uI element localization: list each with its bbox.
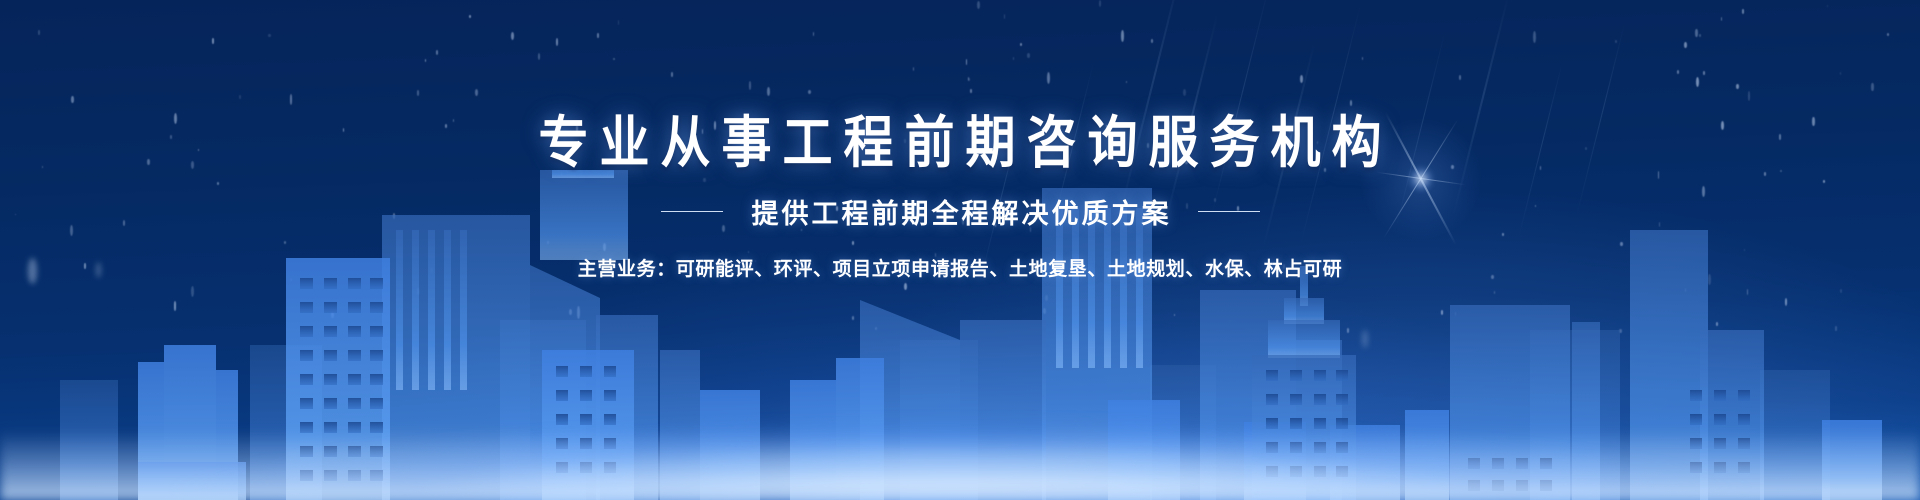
star-particle [1214,198,1216,202]
star-particle [1840,72,1841,75]
star-particle [1764,172,1767,175]
light-streak [1396,33,1446,227]
light-streak [981,122,1021,278]
banner-content: 专业从事工程前期咨询服务机构 提供工程前期全程解决优质方案 主营业务：可研能评、… [0,0,1920,500]
flare-ray [1385,112,1457,245]
star-particle [1502,233,1504,237]
star-particle [511,32,514,40]
star-particle [1779,134,1781,140]
right-dash-decoration [1198,211,1260,213]
star-particle [239,95,241,99]
star-particle [284,241,286,244]
star-particle [904,139,906,143]
star-mote [96,262,101,278]
star-particle [722,225,725,233]
star-particle [1535,205,1536,207]
star-particle [1300,75,1303,83]
star-particle [84,263,86,269]
star-particle [603,243,606,251]
star-particle [852,241,854,245]
bottom-fade [0,430,1920,500]
star-particle [1533,31,1536,43]
light-streak [1452,0,1509,217]
star-particle [1185,161,1188,164]
star-particle [1812,117,1814,125]
star-particle [538,53,540,60]
star-particle [1708,274,1711,285]
star-particle [1785,298,1787,307]
light-streak [1518,63,1563,238]
star-particle [547,241,548,244]
star-particle [966,59,968,65]
star-particle [1237,206,1239,211]
star-particle [852,316,854,320]
light-streak [1211,0,1270,217]
star-particle [1147,143,1149,149]
star-particle [1013,57,1015,60]
star-particle [1045,295,1048,301]
flare-ray [1383,119,1458,238]
star-particle [393,213,395,219]
star-particle [1659,222,1661,228]
star-mote [28,258,37,284]
star-particle [904,283,907,291]
star-particle [613,58,614,61]
star-particle [1702,186,1705,197]
star-particle [671,72,673,78]
star-particle [749,81,752,90]
star-particle [618,20,620,25]
star-particle [1695,29,1697,37]
banner-headline: 专业从事工程前期咨询服务机构 [528,115,1393,171]
star-particle [935,253,937,257]
star-particle [42,166,43,168]
star-particle [1494,291,1495,294]
star-particle [1317,141,1318,144]
light-streak [1047,63,1094,248]
star-particle [1658,171,1660,179]
flare-core [1408,166,1434,192]
star-particle [331,312,333,318]
star-particle [702,129,703,133]
star-particle [1703,71,1706,75]
star-particle [970,89,971,93]
banner-subtitle: 提供工程前期全程解决优质方案 [749,192,1172,231]
star-particle [746,115,748,124]
star-particle [836,206,838,211]
star-particle [978,209,981,215]
lens-flare-icon [1420,178,1421,179]
star-particle [1721,17,1722,21]
horizon-arc-line [0,372,1920,492]
banner-subtitle-row: 提供工程前期全程解决优质方案 [661,192,1260,231]
star-particle [1716,322,1719,327]
star-particle [1540,166,1542,170]
star-particle [561,172,562,175]
horizon-glow [0,350,1920,500]
star-particle [1585,147,1587,150]
star-particle [577,306,580,319]
star-particle [1441,310,1443,315]
star-particle [1620,242,1623,246]
star-particle [969,78,971,82]
star-particle [1615,40,1617,43]
star-particle [268,34,271,38]
star-particle [1362,57,1364,60]
left-dash-decoration [661,211,723,213]
star-particle [1350,100,1352,106]
star-particle [1685,288,1687,292]
star-particle [430,268,433,273]
star-particle [962,216,964,225]
star-particle [217,182,219,185]
star-particle [1030,227,1032,232]
star-particle [1183,89,1186,96]
star-particle [986,121,989,132]
star-particle [1827,5,1828,7]
hero-banner: 专业从事工程前期咨询服务机构 提供工程前期全程解决优质方案 主营业务：可研能评、… [0,0,1920,500]
star-particle [1347,328,1350,334]
star-particle [1451,165,1454,169]
star-particle [1696,77,1699,88]
star-particle [1747,289,1748,295]
star-particle [767,87,770,96]
star-particle [212,38,214,44]
star-particle [1491,275,1494,279]
star-particle [1099,0,1101,7]
star-particle [1459,75,1461,80]
star-particle [569,309,572,316]
star-particle [170,135,172,139]
star-particle [1174,314,1175,316]
star-particle [417,288,419,295]
star-particle [174,301,177,311]
flare-halo [1361,119,1481,239]
star-particle [1871,83,1873,91]
star-particle [343,128,344,132]
star-particle [808,90,811,94]
star-particle [556,38,558,46]
star-particle [1186,203,1188,209]
star-particle [755,260,757,262]
star-particle [469,15,471,18]
star-particle [453,119,454,122]
star-particle [147,159,149,166]
star-particle [1736,84,1739,89]
light-streaks [0,0,1920,500]
light-streak [1300,4,1362,247]
star-particle [1780,170,1782,173]
star-particle [913,67,914,71]
star-particle [1283,264,1285,269]
star-particle [290,94,293,105]
star-particle [1020,43,1022,46]
star-particle [1619,329,1622,334]
star-particle [191,161,194,168]
star-particle [1047,72,1050,84]
star-particle [71,96,73,103]
star-particle [1324,168,1326,172]
star-particle [995,224,997,227]
star-particle [38,30,40,35]
star-particle [445,124,447,128]
banner-business-line: 主营业务：可研能评、环评、项目立项申请报告、土地复垦、土地规划、水保、林占可研 [578,254,1342,281]
star-particle [579,273,581,277]
star-particle [576,125,578,131]
star-particle [875,327,877,330]
star-particle [1455,312,1456,316]
star-particle [1121,30,1124,41]
star-particle [475,89,478,96]
light-streak [1576,23,1625,217]
star-particle [1004,14,1005,19]
star-particle [977,1,980,9]
star-particle [1835,326,1837,330]
star-particle [748,251,749,253]
light-streak [1119,0,1184,216]
star-particle [1106,125,1108,128]
starfield [0,0,1920,500]
star-particle [174,113,177,124]
star-particle [1151,39,1153,43]
star-particle [1126,81,1127,83]
star-particle [123,220,125,226]
star-particle [1744,249,1745,251]
city-skyline [0,170,1920,500]
star-mote [1362,330,1368,348]
star-particle [1684,42,1686,48]
star-particle [1887,33,1889,36]
star-particle [801,229,802,232]
light-streak [1163,13,1218,227]
star-particle [813,32,814,36]
star-particle [1699,34,1701,37]
star-particle [1043,308,1046,315]
star-particle [1289,127,1292,133]
flare-ray [1376,172,1465,186]
star-particle [597,33,599,38]
star-particle [70,225,73,237]
star-particle [1742,9,1744,13]
star-particle [436,50,438,55]
star-particle [714,121,716,130]
star-particle [1840,289,1842,293]
star-particle [968,77,969,82]
star-particle [417,90,419,96]
star-particle [1677,70,1679,74]
star-particle [703,178,705,181]
star-particle [425,59,426,62]
star-particle [1748,91,1750,101]
light-streak [1263,43,1316,247]
star-particle [191,286,194,298]
star-particle [1823,180,1825,183]
star-particle [1721,121,1724,130]
star-particle [198,149,199,151]
star-particle [15,214,16,216]
star-particle [1096,205,1099,211]
star-particle [290,278,292,281]
star-particle [1027,53,1030,58]
